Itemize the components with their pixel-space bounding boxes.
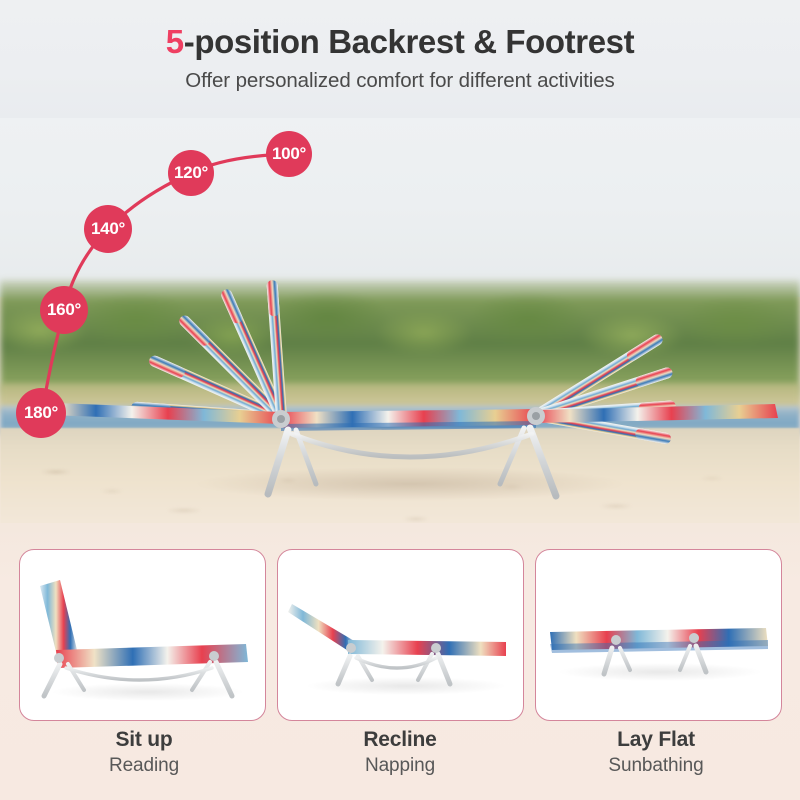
pose-title-recline: Recline <box>278 728 523 752</box>
pose-card-list <box>0 549 800 724</box>
angle-badge-160: 160° <box>40 286 88 334</box>
pose-subtitle-lay-flat: Sunbathing <box>534 755 779 777</box>
header-banner: 5-position Backrest & Footrest Offer per… <box>0 0 800 118</box>
pose-title-lay-flat: Lay Flat <box>534 728 779 752</box>
page-subtitle: Offer personalized comfort for different… <box>0 60 800 93</box>
page-title: 5-position Backrest & Footrest <box>0 0 800 60</box>
angle-badge-100-label: 100° <box>272 144 306 164</box>
pose-label-sit-up: Sit up Reading <box>22 728 267 777</box>
angle-badge-100: 100° <box>266 131 312 177</box>
product-feature-image: 5-position Backrest & Footrest Offer per… <box>0 0 800 800</box>
angle-badge-120-label: 120° <box>174 163 208 183</box>
pose-subtitle-sit-up: Reading <box>22 755 267 777</box>
pose-card-sit-up[interactable] <box>19 549 266 721</box>
pose-label-recline: Recline Napping <box>278 728 523 777</box>
chair-thumb-upright <box>20 550 265 720</box>
angle-badge-140-label: 140° <box>91 219 125 239</box>
angle-badge-120: 120° <box>168 150 214 196</box>
angle-badge-140: 140° <box>84 205 132 253</box>
headline-rest: -position Backrest & Footrest <box>184 23 634 60</box>
angle-badge-160-label: 160° <box>47 300 81 320</box>
pose-card-lay-flat[interactable] <box>535 549 782 721</box>
headline-number: 5 <box>166 23 184 60</box>
pose-subtitle-recline: Napping <box>278 755 523 777</box>
pose-title-sit-up: Sit up <box>22 728 267 752</box>
angle-arc <box>0 112 800 549</box>
chair-thumb-flat <box>536 550 781 720</box>
chair-thumb-reclined <box>278 550 523 720</box>
pose-card-recline[interactable] <box>277 549 524 721</box>
angle-badge-180: 180° <box>16 388 66 438</box>
pose-label-lay-flat: Lay Flat Sunbathing <box>534 728 779 777</box>
angle-badge-180-label: 180° <box>24 403 58 423</box>
angle-callouts: 100° 120° 140° 160° 180° <box>0 112 800 549</box>
pose-label-list: Sit up Reading Recline Napping Lay Flat … <box>0 728 800 777</box>
